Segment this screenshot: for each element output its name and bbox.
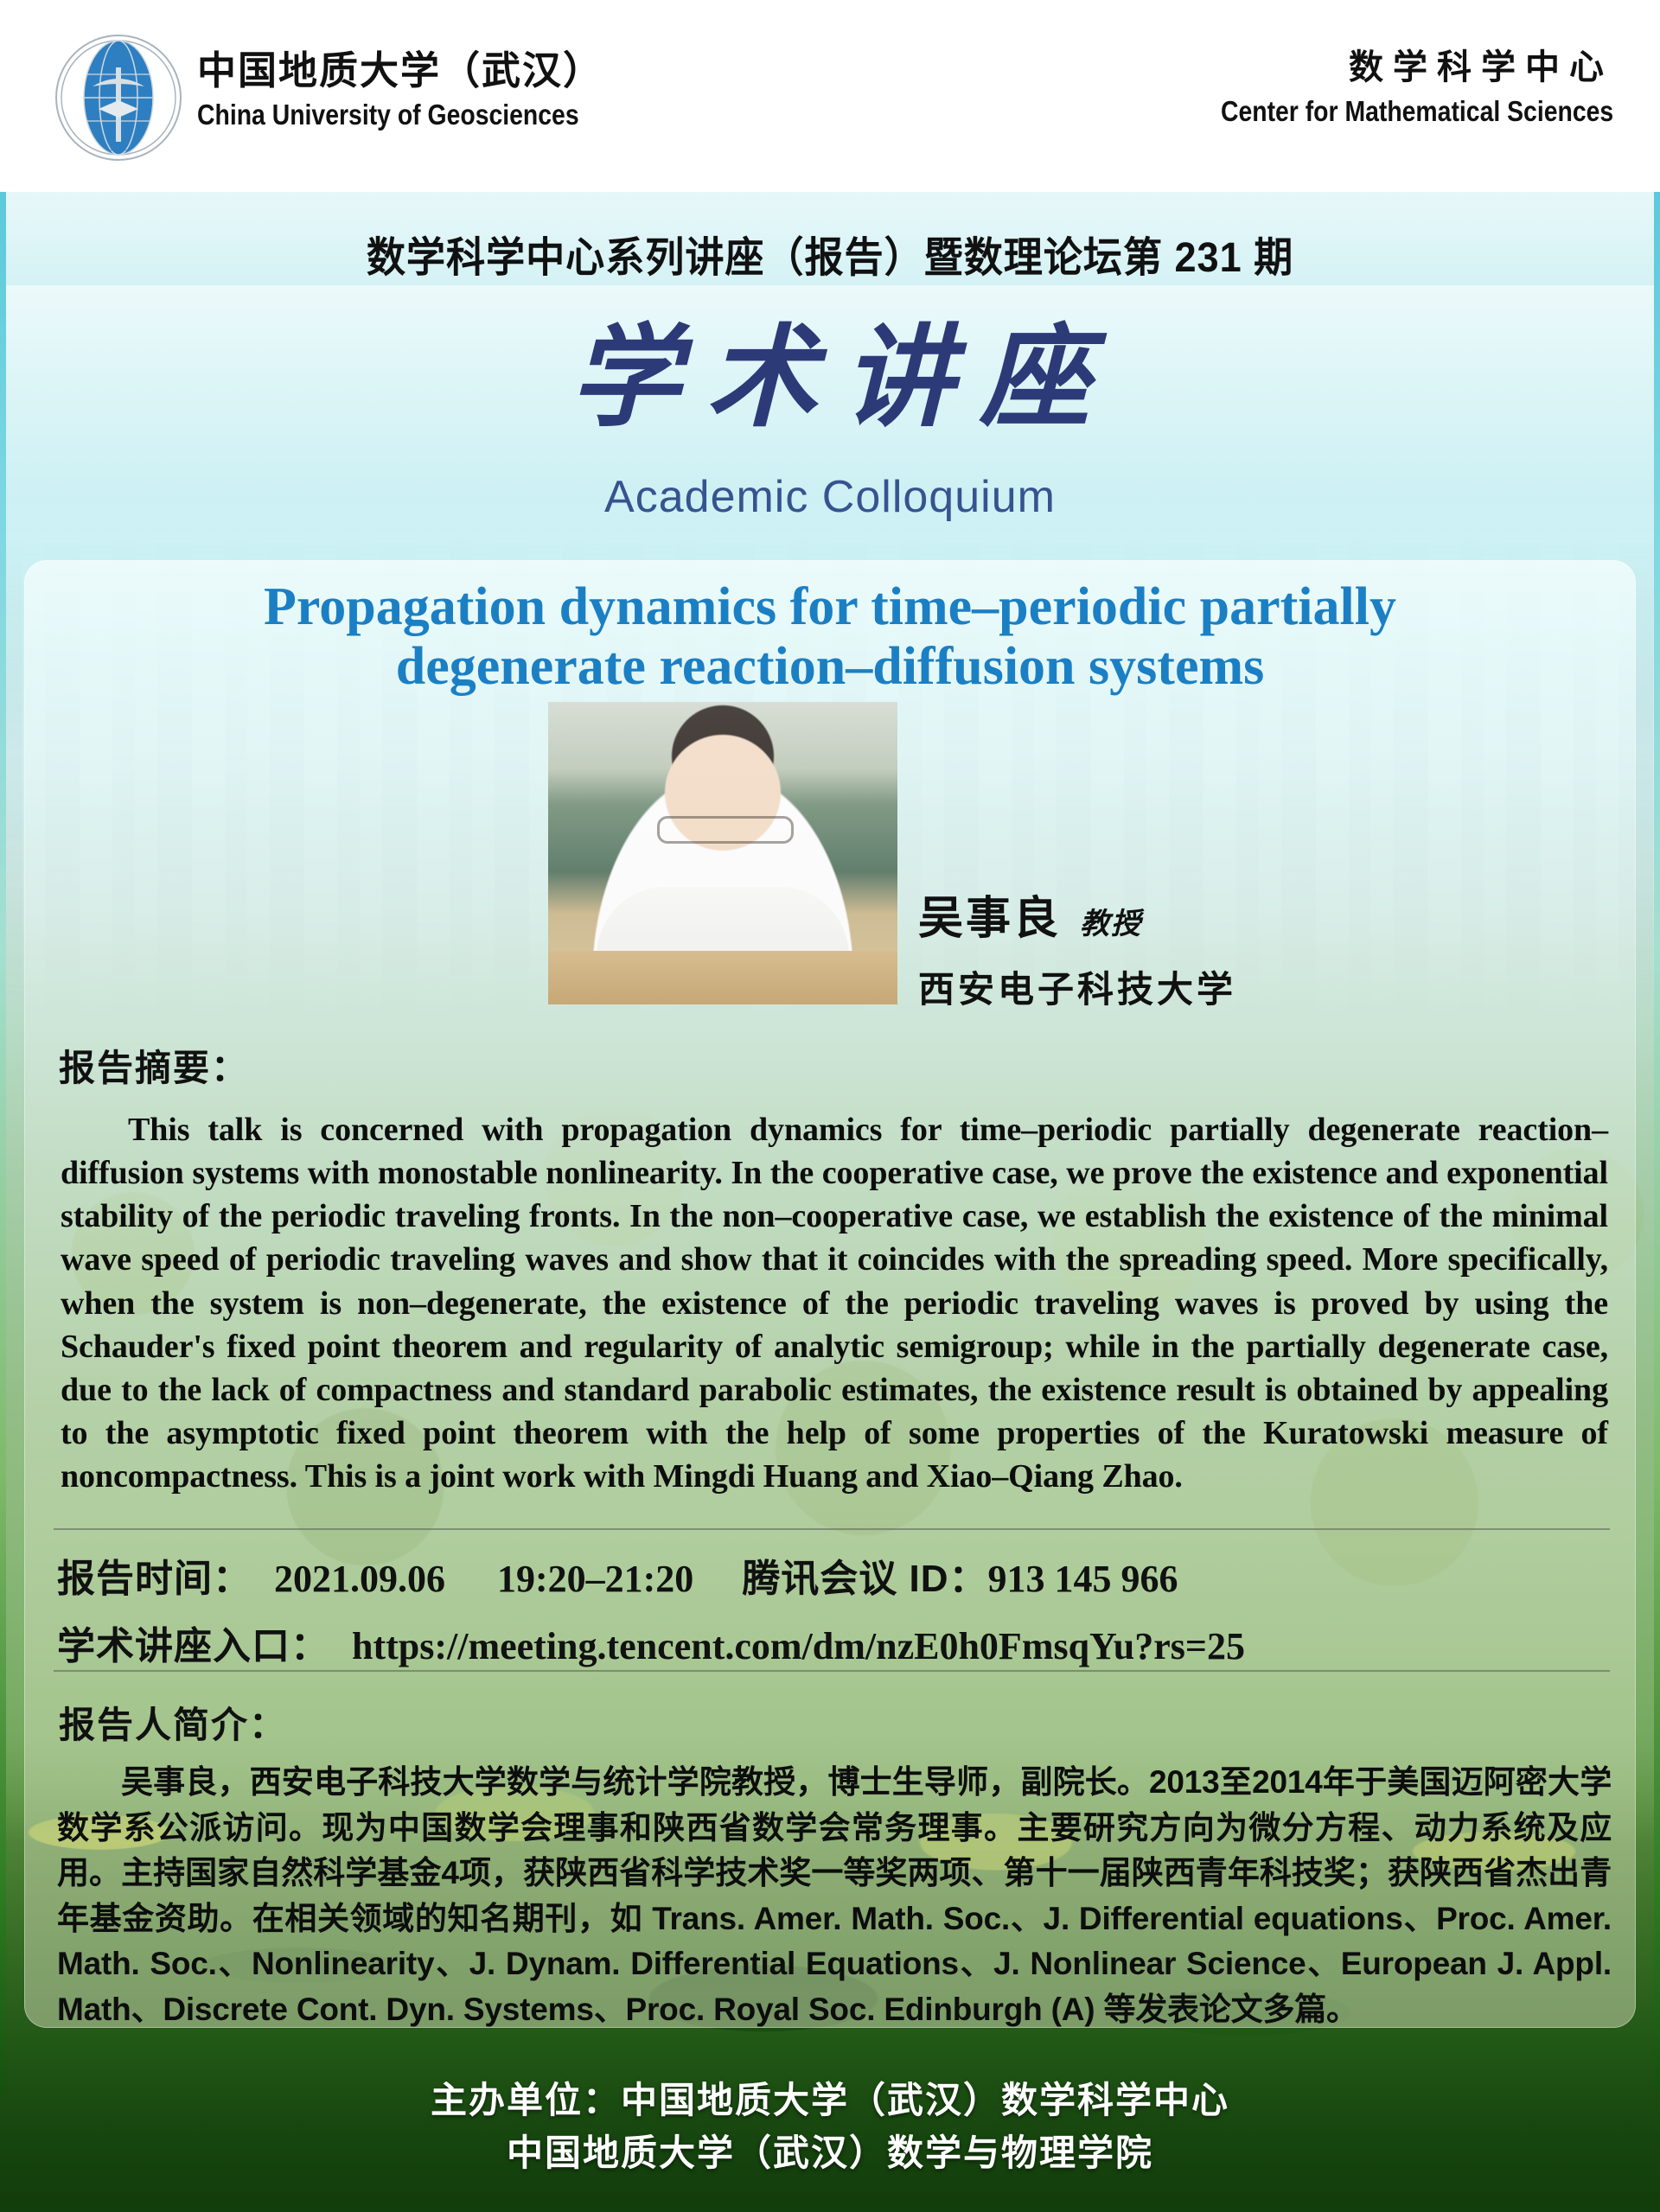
university-name-cn: 中国地质大学（武汉） xyxy=(197,48,642,93)
poster-root: 1952 中国地质大学（武汉） China University of Geos… xyxy=(0,0,1660,2212)
meeting-time-row: 报告时间：2021.09.0619:20–21:20腾讯会议 ID：913 14… xyxy=(57,1547,1178,1603)
speaker-name: 吴事良 xyxy=(918,882,1061,947)
talk-title: Propagation dynamics for time–periodic p… xyxy=(61,577,1599,698)
banner-calligraphy-title: 学术讲座 xyxy=(0,320,1660,436)
meeting-link-label: 学术讲座入口： xyxy=(57,1625,329,1667)
abstract-heading: 报告摘要： xyxy=(59,1039,249,1092)
meeting-time-range: 19:20–21:20 xyxy=(497,1558,693,1600)
svg-text:1952: 1952 xyxy=(110,143,127,152)
center-name-en: Center for Mathematical Sciences xyxy=(1221,95,1613,128)
bio-heading: 报告人简介： xyxy=(59,1696,287,1749)
center-name-cn: 数学科学中心 xyxy=(1157,48,1613,88)
speaker-photo xyxy=(548,702,897,1004)
desk-detail xyxy=(548,951,897,1004)
divider-bottom xyxy=(54,1670,1610,1672)
bio-text: 吴事良，西安电子科技大学数学与统计学院教授，博士生导师，副院长。2013至201… xyxy=(57,1760,1612,2032)
speaker-rank: 教授 xyxy=(1080,900,1142,942)
university-name-block: 中国地质大学（武汉） China University of Geoscienc… xyxy=(197,48,642,131)
left-edge-stripe xyxy=(0,0,6,2092)
speaker-info: 吴事良教授 西安电子科技大学 xyxy=(918,882,1236,1013)
divider-top xyxy=(54,1528,1610,1530)
right-edge-stripe xyxy=(1654,0,1660,2092)
organizer-line-2: 中国地质大学（武汉）数学与物理学院 xyxy=(0,2127,1660,2180)
meeting-time-label: 报告时间： xyxy=(57,1558,252,1600)
meeting-link-url[interactable]: https://meeting.tencent.com/dm/nzE0h0Fms… xyxy=(352,1625,1245,1667)
meeting-link-row: 学术讲座入口：https://meeting.tencent.com/dm/nz… xyxy=(57,1615,1245,1670)
banner-subtitle-en: Academic Colloquium xyxy=(0,471,1660,523)
organizer-line-1: 主办单位：中国地质大学（武汉）数学科学中心 xyxy=(0,2075,1660,2127)
poster-header: 1952 中国地质大学（武汉） China University of Geos… xyxy=(0,0,1660,192)
university-name-en: China University of Geosciences xyxy=(197,99,579,131)
abstract-text: This talk is concerned with propagation … xyxy=(61,1108,1608,1498)
glasses-detail xyxy=(657,816,794,844)
meeting-id-value: 913 145 966 xyxy=(988,1558,1178,1600)
poster-footer: 主办单位：中国地质大学（武汉）数学科学中心 中国地质大学（武汉）数学与物理学院 xyxy=(0,2075,1660,2180)
speaker-affiliation: 西安电子科技大学 xyxy=(918,960,1236,1013)
meeting-id-label: 腾讯会议 ID： xyxy=(742,1558,987,1600)
cug-seal-logo-icon: 1952 xyxy=(54,33,183,163)
talk-title-line2: degenerate reaction–diffusion systems xyxy=(61,637,1599,697)
speaker-name-row: 吴事良教授 xyxy=(918,882,1236,947)
meeting-date: 2021.09.06 xyxy=(274,1558,445,1600)
center-name-block: 数学科学中心 Center for Mathematical Sciences xyxy=(1157,48,1613,128)
talk-title-line1: Propagation dynamics for time–periodic p… xyxy=(61,577,1599,637)
series-title: 数学科学中心系列讲座（报告）暨数理论坛第 231 期 xyxy=(50,223,1611,284)
